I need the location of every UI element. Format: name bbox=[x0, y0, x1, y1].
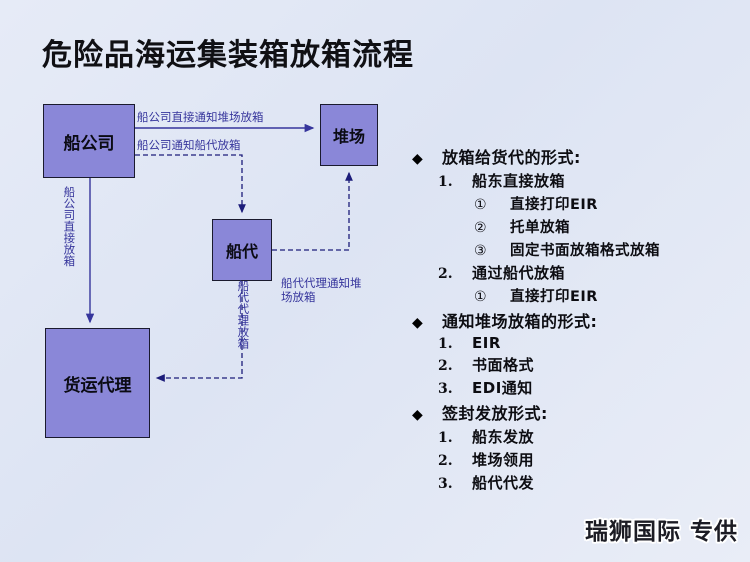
bullet-item-label: 书面格式 bbox=[472, 354, 534, 375]
bullet-item-level-1: ◆通知堆场放箱的形式: bbox=[412, 308, 750, 332]
bullet-item-label: EIR bbox=[472, 334, 501, 352]
flowchart: 船公司 堆场 船代 货运代理 船公司直接通知堆场放箱 船公司通知船代放箱 船公司… bbox=[0, 0, 410, 562]
bullet-item-label: 签封发放形式: bbox=[442, 400, 548, 424]
bullet-item-level-2: 1.船东发放 bbox=[412, 426, 750, 447]
diamond-bullet-icon: ◆ bbox=[412, 408, 442, 422]
bullet-item-level-2: 2.通过船代放箱 bbox=[412, 262, 750, 283]
bullet-item-level-2: 3.船代代发 bbox=[412, 472, 750, 493]
bullet-item-label: 直接打印EIR bbox=[510, 285, 598, 306]
edge-label-carrier-to-yard: 船公司直接通知堆场放箱 bbox=[137, 110, 264, 124]
bullet-item-label: 直接打印EIR bbox=[510, 193, 598, 214]
diamond-bullet-icon: ◆ bbox=[412, 152, 442, 166]
bullet-item-label: 堆场领用 bbox=[472, 449, 534, 470]
bullet-item-level-2: 1.EIR bbox=[412, 334, 750, 352]
bullet-item-level-2: 2.书面格式 bbox=[412, 354, 750, 375]
slide-canvas: 危险品海运集装箱放箱流程 bbox=[0, 0, 750, 562]
flow-node-forwarder-label: 货运代理 bbox=[64, 371, 132, 396]
edge-carrier-to-agent bbox=[135, 155, 242, 212]
bullet-item-level-1: ◆签封发放形式: bbox=[412, 400, 750, 424]
edge-label-carrier-to-agent: 船公司通知船代放箱 bbox=[137, 138, 241, 152]
edge-agent-to-forwarder bbox=[157, 281, 242, 378]
edge-label-agent-to-yard: 船代代理通知堆场放箱 bbox=[281, 276, 367, 305]
bullet-item-label: 船东发放 bbox=[472, 426, 534, 447]
bullet-marker: 1. bbox=[438, 336, 472, 352]
bullet-marker: 3. bbox=[438, 381, 472, 397]
bullet-marker: ① bbox=[474, 289, 510, 305]
bullet-marker: 2. bbox=[438, 453, 472, 469]
bullet-item-label: 放箱给货代的形式: bbox=[442, 144, 581, 168]
bullet-item-label: 通过船代放箱 bbox=[472, 262, 565, 283]
flow-node-yard[interactable]: 堆场 bbox=[320, 104, 378, 166]
flow-node-forwarder[interactable]: 货运代理 bbox=[45, 328, 150, 438]
bullet-marker: ② bbox=[474, 220, 510, 236]
bullet-marker: 3. bbox=[438, 476, 472, 492]
edge-agent-to-yard bbox=[272, 173, 349, 250]
flow-node-agent-label: 船代 bbox=[226, 238, 258, 262]
bullet-item-level-3: ②托单放箱 bbox=[412, 216, 750, 237]
flow-node-agent[interactable]: 船代 bbox=[212, 219, 272, 281]
bullet-marker: 1. bbox=[438, 430, 472, 446]
watermark: 瑞狮国际 专供 bbox=[585, 512, 738, 546]
bullet-item-label: 托单放箱 bbox=[510, 216, 570, 237]
bullet-marker: ① bbox=[474, 197, 510, 213]
edge-label-carrier-to-forwarder: 船公司直接放箱 bbox=[62, 186, 76, 267]
bullet-marker: 2. bbox=[438, 358, 472, 374]
bullet-marker: 2. bbox=[438, 266, 472, 282]
bullet-item-label: 船东直接放箱 bbox=[472, 170, 565, 191]
flow-node-carrier[interactable]: 船公司 bbox=[43, 104, 135, 178]
bullet-item-level-3: ①直接打印EIR bbox=[412, 285, 750, 306]
bullet-list: ◆放箱给货代的形式:1.船东直接放箱①直接打印EIR②托单放箱③固定书面放箱格式… bbox=[412, 144, 750, 495]
bullet-item-level-2: 1.船东直接放箱 bbox=[412, 170, 750, 191]
diamond-bullet-icon: ◆ bbox=[412, 316, 442, 330]
flow-node-yard-label: 堆场 bbox=[333, 123, 365, 147]
edge-label-agent-to-forwarder: 船代代理放箱 bbox=[236, 280, 250, 349]
bullet-item-level-3: ①直接打印EIR bbox=[412, 193, 750, 214]
bullet-item-label: 固定书面放箱格式放箱 bbox=[510, 239, 660, 260]
bullet-marker: ③ bbox=[474, 243, 510, 259]
bullet-item-label: 通知堆场放箱的形式: bbox=[442, 308, 597, 332]
bullet-item-level-2: 2.堆场领用 bbox=[412, 449, 750, 470]
bullet-item-level-2: 3.EDI通知 bbox=[412, 377, 750, 398]
bullet-item-label: EDI通知 bbox=[472, 377, 533, 398]
bullet-item-level-3: ③固定书面放箱格式放箱 bbox=[412, 239, 750, 260]
bullet-item-label: 船代代发 bbox=[472, 472, 534, 493]
flow-node-carrier-label: 船公司 bbox=[64, 129, 115, 154]
bullet-item-level-1: ◆放箱给货代的形式: bbox=[412, 144, 750, 168]
bullet-marker: 1. bbox=[438, 174, 472, 190]
